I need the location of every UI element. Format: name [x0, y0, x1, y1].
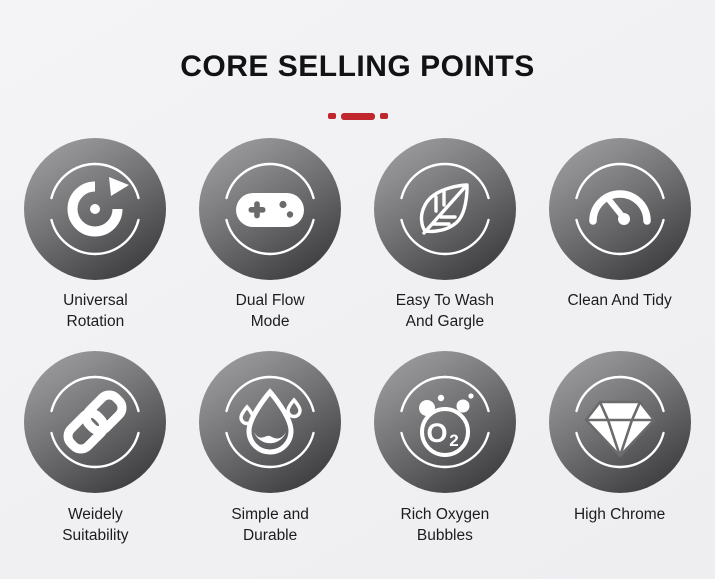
svg-text:O: O [426, 418, 447, 448]
divider-dash-center [341, 113, 375, 120]
feature-item-clean-and-tidy[interactable]: Clean And Tidy [532, 138, 707, 333]
leaf-icon [391, 155, 499, 263]
feature-item-rich-oxygen-bubbles[interactable]: O 2 Rich Oxygen Bubbles [358, 351, 533, 547]
gauge-icon [566, 155, 674, 263]
feature-label-line1: Weidely [68, 506, 123, 523]
page-title: CORE SELLING POINTS [0, 52, 715, 82]
core-selling-points-page: CORE SELLING POINTS [0, 0, 715, 579]
title-divider [0, 112, 715, 120]
feature-badge [549, 138, 691, 280]
feature-item-high-chrome[interactable]: High Chrome [532, 351, 707, 547]
feature-label: Easy To Wash And Gargle [396, 290, 494, 333]
chain-link-icon [41, 368, 149, 476]
feature-label: Clean And Tidy [567, 290, 671, 311]
feature-label-line2: Suitability [62, 527, 128, 544]
svg-text:2: 2 [449, 431, 458, 450]
feature-label-line1: Rich Oxygen [401, 506, 490, 523]
feature-badge [374, 138, 516, 280]
feature-item-weidely-suitability[interactable]: Weidely Suitability [8, 351, 183, 547]
feature-label: Simple and Durable [231, 504, 309, 547]
water-drop-icon [216, 368, 324, 476]
feature-label-line1: Easy To Wash [396, 292, 494, 309]
rotation-icon [41, 155, 149, 263]
feature-grid-row-1: Universal Rotation [0, 138, 715, 333]
feature-label: Universal Rotation [63, 290, 128, 333]
feature-grid-row-2: Weidely Suitability [0, 351, 715, 547]
divider-dash-left [328, 113, 336, 119]
feature-label: Rich Oxygen Bubbles [401, 504, 490, 547]
feature-item-simple-and-durable[interactable]: Simple and Durable [183, 351, 358, 547]
divider-dash-right [380, 113, 388, 119]
gamepad-icon [216, 155, 324, 263]
feature-item-dual-flow-mode[interactable]: Dual Flow Mode [183, 138, 358, 333]
feature-label-line2: Durable [243, 527, 297, 544]
feature-badge [199, 351, 341, 493]
feature-label-line1: Simple and [231, 506, 309, 523]
header: CORE SELLING POINTS [0, 0, 715, 120]
feature-item-easy-to-wash[interactable]: Easy To Wash And Gargle [358, 138, 533, 333]
feature-label: High Chrome [574, 504, 665, 525]
feature-badge [549, 351, 691, 493]
oxygen-bubbles-icon: O 2 [391, 368, 499, 476]
feature-label-line1: High Chrome [574, 506, 665, 523]
feature-badge: O 2 [374, 351, 516, 493]
feature-badge [199, 138, 341, 280]
feature-label-line1: Clean And Tidy [567, 292, 671, 309]
diamond-icon [566, 368, 674, 476]
feature-badge [24, 138, 166, 280]
feature-label-line2: Rotation [67, 313, 125, 330]
feature-label: Dual Flow Mode [236, 290, 305, 333]
feature-label-line2: Mode [251, 313, 290, 330]
feature-label-line1: Universal [63, 292, 128, 309]
feature-item-universal-rotation[interactable]: Universal Rotation [8, 138, 183, 333]
feature-label-line2: Bubbles [417, 527, 473, 544]
feature-label-line1: Dual Flow [236, 292, 305, 309]
feature-label-line2: And Gargle [406, 313, 484, 330]
feature-label: Weidely Suitability [62, 504, 128, 547]
feature-badge [24, 351, 166, 493]
